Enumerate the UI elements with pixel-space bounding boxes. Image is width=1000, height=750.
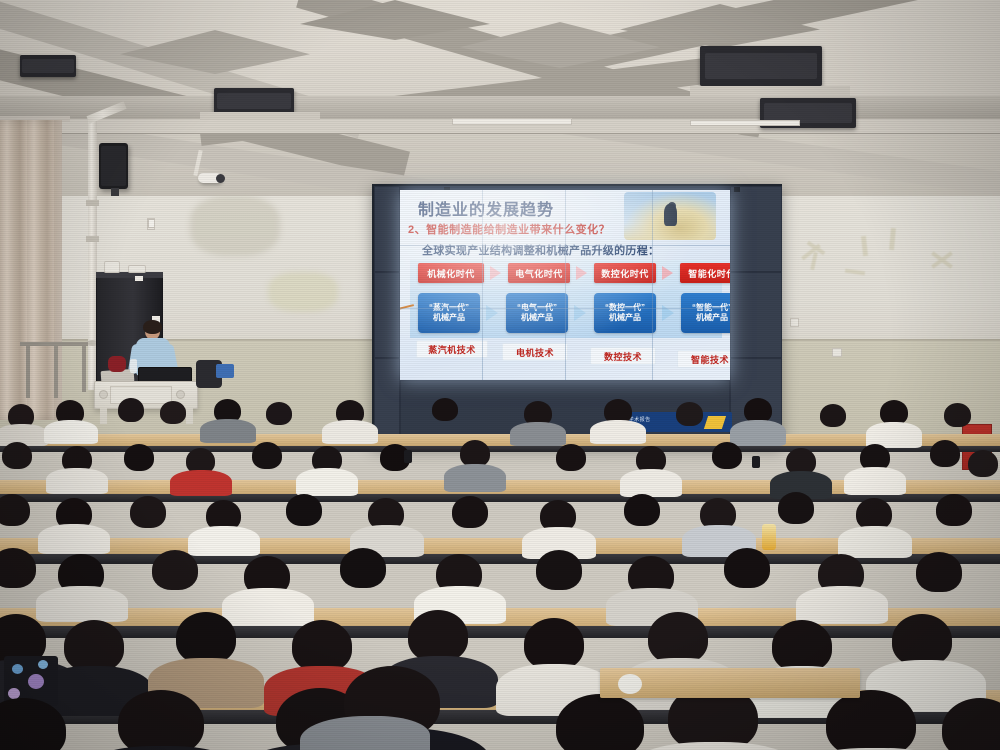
student-head [152, 550, 198, 590]
videowall-mount-clip [734, 187, 740, 192]
student-shoulders [444, 464, 506, 492]
student-head [524, 618, 584, 670]
projector-mount [200, 112, 320, 120]
student-shoulders [730, 420, 786, 446]
student-head [916, 552, 962, 592]
student-shoulders [844, 467, 906, 495]
student-shoulders [38, 524, 110, 554]
arrow-era-3-4-icon [662, 266, 673, 280]
student-shoulders [78, 746, 246, 750]
slide-subtitle: 2、智能制造能给制造业带来什么变化？ [408, 221, 610, 237]
panel-seam [400, 308, 730, 309]
student-shoulders [796, 586, 888, 624]
panel-seam [565, 190, 566, 380]
videowall-panel [374, 186, 400, 272]
student-head [624, 494, 660, 526]
student-head [772, 620, 832, 672]
lecture-hall-photo: 消火栓 制造业的发展趋势 2、智能制造能给制造 [0, 0, 1000, 750]
product-box-2: “电气一代” 机械产品 [506, 293, 568, 333]
arrow-era-1-2-icon [490, 266, 501, 280]
stair-railing-post [26, 342, 30, 398]
student-head [648, 612, 708, 664]
rack-top-device [104, 261, 120, 273]
rack-top-device [128, 265, 146, 273]
student-head [826, 690, 916, 750]
wall-outlet [790, 318, 799, 327]
stair-railing-post [54, 342, 58, 398]
student-shoulders [590, 420, 646, 444]
student-shoulders [36, 586, 128, 622]
speaker-grille [101, 146, 125, 186]
technology-box-1: 蒸汽机技术 [416, 340, 488, 358]
wall-smudge [190, 196, 280, 256]
flower-motif [28, 674, 44, 689]
student-head [936, 494, 972, 526]
blue-chair [216, 364, 234, 378]
student-head [968, 450, 998, 477]
student-head [724, 548, 770, 588]
student-head [340, 548, 386, 588]
smartphone [404, 450, 412, 463]
wall-outlet [832, 348, 842, 357]
student-head [2, 442, 32, 469]
projector-mount [690, 86, 850, 96]
juice-bottle [762, 524, 776, 550]
student-head [930, 440, 960, 467]
era-box-3: 数控化时代 [594, 263, 656, 283]
student-shoulders [296, 468, 358, 496]
era-box-4: 智能化时代 [680, 263, 730, 283]
student-shoulders [170, 470, 232, 496]
product-box-1: “蒸汽一代” 机械产品 [418, 293, 480, 333]
tube-light [690, 120, 800, 126]
student-head [286, 494, 322, 526]
student-head [944, 403, 971, 427]
pipe-ring [86, 200, 99, 206]
desk-edge [0, 626, 1000, 638]
student-head [556, 444, 586, 471]
student-head [160, 401, 186, 424]
window-curtain [0, 120, 62, 420]
rack-label [135, 276, 143, 281]
camera-lens [216, 174, 225, 183]
product-box-4: “智能一代” 机械产品 [681, 293, 730, 333]
student-head [892, 614, 952, 666]
student-head [64, 620, 124, 672]
student-head [712, 442, 742, 469]
red-bag [108, 356, 126, 372]
student-head [452, 496, 488, 528]
ceiling-projector [214, 88, 294, 114]
technology-box-2: 电机技术 [502, 343, 568, 361]
slide-title: 制造业的发展趋势 [418, 196, 554, 220]
product-box-4-line2: 机械产品 [696, 313, 728, 323]
student-head [292, 620, 352, 672]
water-bottle [130, 359, 137, 373]
student-head [432, 398, 458, 421]
student-head [676, 402, 703, 426]
videowall-panel [730, 272, 782, 358]
wheat-photo-figure [664, 204, 677, 226]
panel-seam [482, 190, 483, 380]
pipe-ring [86, 236, 99, 242]
student-shoulders [44, 420, 98, 444]
era-box-2: 电气化时代 [508, 263, 570, 283]
product-box-3: “数控一代” 机械产品 [594, 293, 656, 333]
student-shoulders [626, 742, 802, 750]
arrow-era-2-3-icon [576, 266, 587, 280]
student-head [124, 444, 154, 471]
student-shoulders [620, 469, 682, 497]
speaker-bracket [111, 188, 119, 196]
technology-box-3: 数控技术 [590, 347, 656, 365]
wireless-mouse [618, 674, 642, 694]
lecturer-head [143, 320, 162, 334]
student-shoulders [188, 526, 260, 556]
student-head [820, 404, 846, 427]
projector-body [705, 53, 817, 79]
panel-seam [400, 245, 730, 246]
wall-smudge [268, 272, 338, 312]
student-shoulders [510, 422, 566, 446]
student-head [408, 610, 468, 662]
projector-body [22, 59, 74, 73]
tube-light [452, 118, 572, 125]
student-head [130, 496, 166, 528]
presentation-slide[interactable]: 制造业的发展趋势 2、智能制造能给制造业带来什么变化？ 全球实现产业结构调整和机… [400, 190, 730, 380]
student-shoulders [200, 419, 256, 443]
product-box-3-line2: 机械产品 [609, 313, 641, 323]
wheat-field-photo [624, 192, 716, 240]
student-head [536, 550, 582, 590]
videowall-panel [730, 186, 782, 272]
ceiling [0, 0, 1000, 200]
ceiling-projector [700, 46, 822, 86]
student-shoulders [322, 420, 378, 444]
flower-motif [38, 660, 48, 669]
wall-outlet [148, 219, 155, 228]
projector-body [217, 93, 291, 110]
product-box-1-line2: 机械产品 [433, 313, 465, 323]
student-head [460, 440, 490, 467]
student-head [118, 690, 204, 750]
student-head [252, 442, 282, 469]
student-head [118, 398, 144, 422]
stair-railing-post [82, 342, 86, 392]
student-shoulders [222, 588, 314, 626]
student-head [176, 612, 236, 664]
technology-box-4: 智能技术 [677, 350, 730, 368]
flower-motif [12, 664, 23, 674]
student-shoulders [46, 468, 108, 494]
wall-speaker [99, 143, 128, 189]
ceiling-projector [20, 55, 76, 77]
panel-seam [652, 190, 653, 380]
smartphone [752, 456, 760, 468]
student-head [778, 492, 814, 524]
student-head [266, 402, 292, 425]
product-box-2-line2: 机械产品 [521, 313, 553, 323]
era-box-1: 机械化时代 [418, 263, 484, 283]
student-head [0, 494, 30, 526]
videowall-panel [374, 272, 400, 358]
student-shoulders [838, 526, 912, 558]
audience-area: lazer Wea [0, 398, 1000, 750]
